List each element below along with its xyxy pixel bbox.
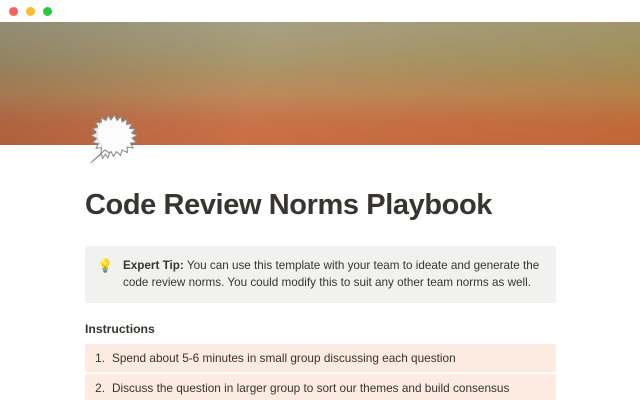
callout-body: You can use this template with your team… xyxy=(123,259,539,289)
expert-tip-callout[interactable]: 💡 Expert Tip: You can use this template … xyxy=(85,246,556,303)
callout-lead: Expert Tip: xyxy=(123,259,184,272)
list-item[interactable]: 2. Discuss the question in larger group … xyxy=(85,374,556,400)
close-window-button[interactable] xyxy=(9,7,18,16)
traffic-light-buttons xyxy=(9,7,52,16)
page-content: Code Review Norms Playbook 💡 Expert Tip:… xyxy=(85,145,557,400)
list-item-number: 1. xyxy=(93,349,105,367)
callout-text: Expert Tip: You can use this template wi… xyxy=(123,257,543,291)
window-titlebar xyxy=(0,0,640,22)
instructions-heading: Instructions xyxy=(85,321,557,337)
minimize-window-button[interactable] xyxy=(26,7,35,16)
lightbulb-icon: 💡 xyxy=(97,257,114,274)
list-item-number: 2. xyxy=(93,379,105,397)
page-title[interactable]: Code Review Norms Playbook xyxy=(85,188,557,222)
maximize-window-button[interactable] xyxy=(43,7,52,16)
list-item-text: Spend about 5-6 minutes in small group d… xyxy=(112,349,546,367)
list-item-text: Discuss the question in larger group to … xyxy=(112,379,546,397)
app-window: Code Review Norms Playbook 💡 Expert Tip:… xyxy=(0,0,640,400)
list-item[interactable]: 1. Spend about 5-6 minutes in small grou… xyxy=(85,344,556,372)
instructions-list: 1. Spend about 5-6 minutes in small grou… xyxy=(85,344,556,400)
